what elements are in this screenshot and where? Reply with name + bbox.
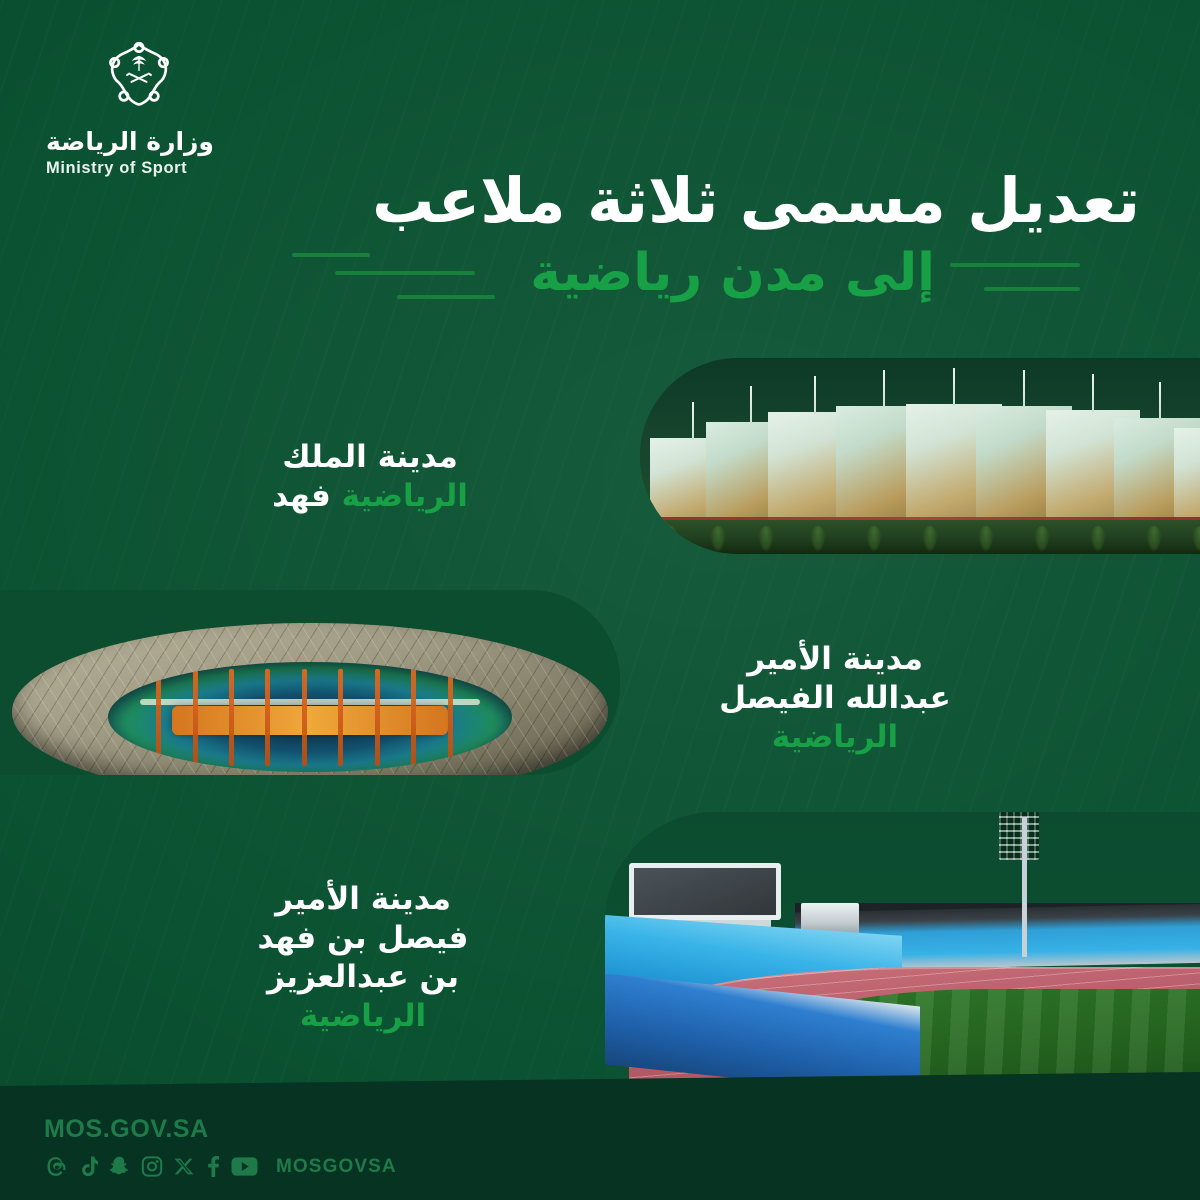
palm-tree-icon xyxy=(1034,526,1050,552)
caption-prince-faisal-bin-fahd: مدينة الأمير فيصل بن فهد بن عبدالعزيز ال… xyxy=(238,880,488,1036)
seating-stripe xyxy=(193,669,198,766)
palm-tree-icon xyxy=(1090,526,1106,552)
prince-abdullah-alfaisal-stadium-photo xyxy=(0,590,620,775)
seating-stripe xyxy=(265,669,270,766)
instagram-icon[interactable] xyxy=(141,1155,163,1178)
seating-stripe xyxy=(229,669,234,766)
headline: تعديل مسمى ثلاثة ملاعب إلى مدن رياضية xyxy=(140,168,1140,315)
caption-accent: الرياضية xyxy=(685,718,985,757)
caption-line: مدينة الملك xyxy=(240,438,500,477)
floodlight-head-icon xyxy=(999,812,1039,860)
king-fahd-stadium-photo xyxy=(640,358,1200,554)
speed-line xyxy=(950,263,1080,267)
orange-field-display xyxy=(172,706,447,735)
headline-line-2: إلى مدن رياضية xyxy=(530,245,935,302)
scoreboard xyxy=(629,863,781,920)
tent-peak-icon xyxy=(1174,428,1200,530)
seating-stripe xyxy=(302,669,307,766)
palm-tree-icon xyxy=(758,526,774,552)
caption-line: فيصل بن فهد xyxy=(238,919,488,958)
footer-content: MOS.GOV.SA xyxy=(44,1115,397,1178)
palm-landscaping-strip xyxy=(640,520,1200,554)
caption-line: مدينة الأمير xyxy=(685,640,985,679)
seating-stripe xyxy=(375,669,380,766)
scoreboard-screen xyxy=(634,868,776,915)
caption-prince-abdullah-alfaisal: مدينة الأمير عبدالله الفيصل الرياضية xyxy=(685,640,985,757)
caption-word: فهد xyxy=(272,478,331,514)
caption-line: مدينة الأمير xyxy=(238,880,488,919)
tiktok-icon[interactable] xyxy=(78,1155,98,1178)
website-url[interactable]: MOS.GOV.SA xyxy=(44,1115,397,1144)
palm-tree-icon xyxy=(710,526,726,552)
logo-name-arabic: وزارة الرياضة xyxy=(44,128,234,156)
white-track-ring xyxy=(140,699,480,705)
headline-line-2-wrap: إلى مدن رياضية xyxy=(140,243,1140,315)
speed-line xyxy=(335,271,475,275)
poster-canvas: وزارة الرياضة Ministry of Sport تعديل مس… xyxy=(0,0,1200,1200)
tent-roof-row xyxy=(640,380,1200,530)
palm-tree-icon xyxy=(866,526,882,552)
ministry-logo: وزارة الرياضة Ministry of Sport xyxy=(44,34,234,178)
caption-line: بن عبدالعزيز xyxy=(238,958,488,997)
floodlight-mast xyxy=(1022,817,1027,956)
seating-stripe xyxy=(448,669,453,766)
social-links-row: MOSGOVSA xyxy=(44,1155,397,1178)
seating-stripe xyxy=(338,669,343,766)
speed-line xyxy=(292,253,370,257)
stadium-inner-bowl xyxy=(108,662,513,772)
caption-accent: الرياضية xyxy=(238,997,488,1036)
palm-tree-icon xyxy=(978,526,994,552)
headline-line-1: تعديل مسمى ثلاثة ملاعب xyxy=(140,168,1140,235)
social-handle: MOSGOVSA xyxy=(276,1156,397,1178)
palm-tree-icon xyxy=(810,526,826,552)
prince-faisal-bin-fahd-stadium-photo xyxy=(605,812,1200,1080)
snapchat-icon[interactable] xyxy=(109,1155,130,1178)
saudi-ministry-of-sport-emblem-icon xyxy=(97,34,181,118)
caption-line: عبدالله الفيصل xyxy=(685,679,985,718)
caption-line: الرياضية فهد xyxy=(240,477,500,516)
palm-tree-icon xyxy=(1192,526,1200,552)
seating-stripe xyxy=(411,669,416,766)
speed-line xyxy=(397,295,495,299)
x-icon[interactable] xyxy=(174,1155,195,1178)
palm-tree-icon xyxy=(922,526,938,552)
palm-tree-icon xyxy=(662,526,678,552)
facebook-icon[interactable] xyxy=(206,1155,220,1178)
youtube-icon[interactable] xyxy=(231,1155,258,1178)
seating-stripe xyxy=(156,669,161,766)
caption-king-fahd: مدينة الملك الرياضية فهد xyxy=(240,438,500,516)
speed-line xyxy=(984,287,1080,291)
palm-tree-icon xyxy=(1146,526,1162,552)
caption-accent: الرياضية xyxy=(342,478,468,514)
threads-icon[interactable] xyxy=(44,1155,67,1178)
